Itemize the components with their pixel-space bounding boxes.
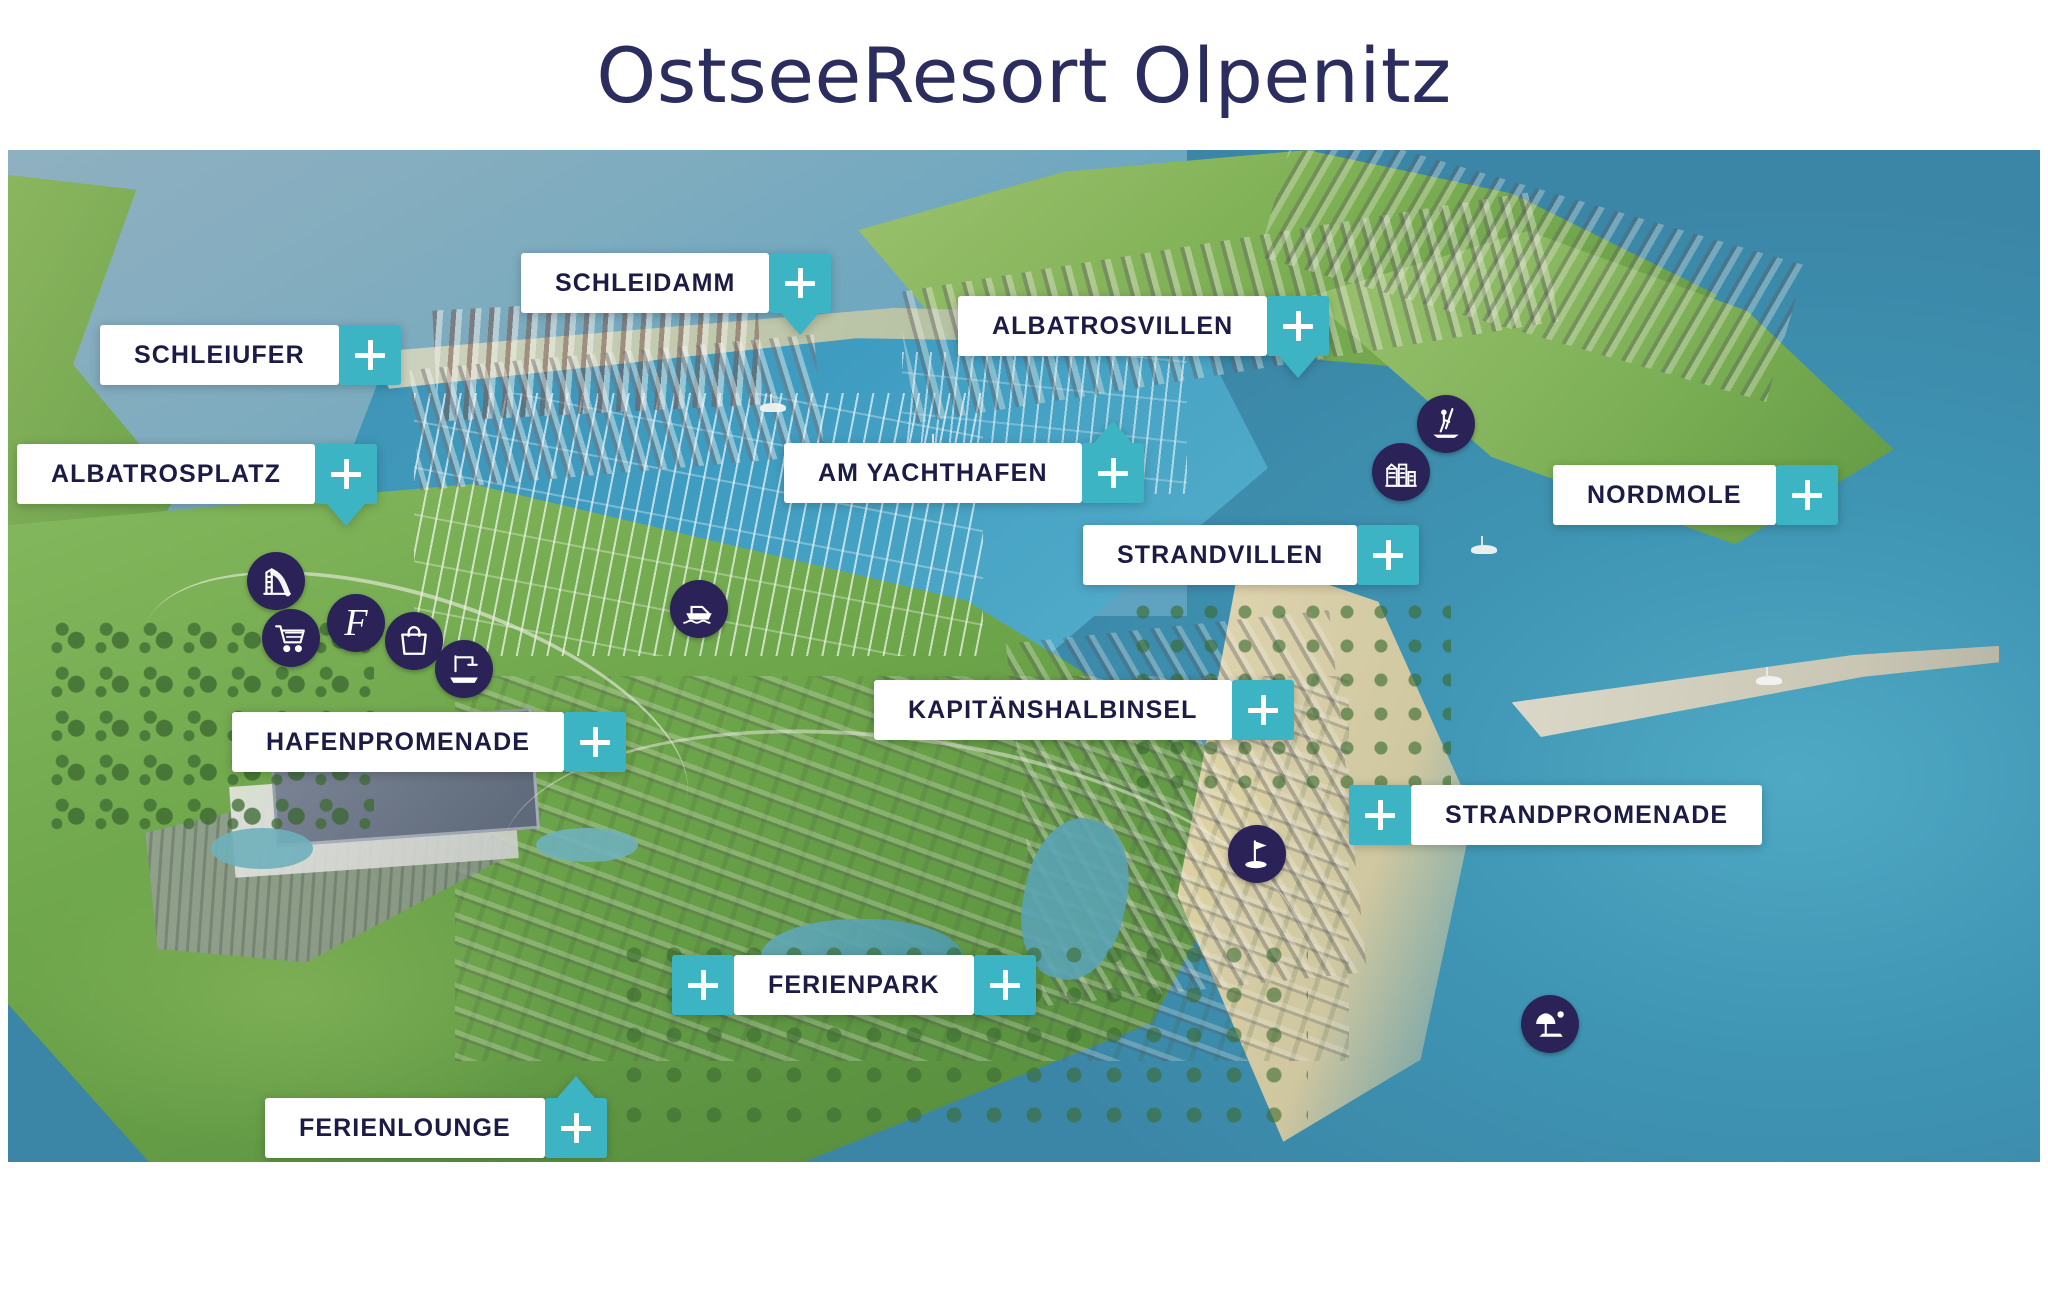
map-label-ferienlounge[interactable]: FERIENLOUNGE — [265, 1098, 607, 1158]
add-marker-button[interactable] — [1349, 785, 1411, 845]
plus-icon — [1248, 695, 1278, 725]
map-label-strandvillen[interactable]: STRANDVILLEN — [1083, 525, 1419, 585]
plus-icon — [688, 970, 718, 1000]
add-marker-button[interactable] — [1776, 465, 1838, 525]
add-marker-button[interactable] — [545, 1098, 607, 1158]
script-f-logo-icon[interactable]: F — [327, 594, 385, 652]
map-label-text: ALBATROSVILLEN — [958, 296, 1267, 356]
add-marker-button[interactable] — [1267, 296, 1329, 356]
script-f-letter: F — [344, 604, 367, 642]
harbour-town-icon[interactable] — [1372, 443, 1430, 501]
map-label-text: FERIENLOUNGE — [265, 1098, 545, 1158]
map-label-text: AM YACHTHAFEN — [784, 443, 1082, 503]
motorboat-icon[interactable] — [670, 580, 728, 638]
beach-umbrella-icon[interactable] — [1521, 995, 1579, 1053]
map-label-text: ALBATROSPLATZ — [17, 444, 315, 504]
map-label-kapitaenshalbinsel[interactable]: KAPITÄNSHALBINSEL — [874, 680, 1294, 740]
map-label-text: SCHLEIDAMM — [521, 253, 769, 313]
map-label-text: SCHLEIUFER — [100, 325, 339, 385]
plus-icon — [355, 340, 385, 370]
boat-marker — [1471, 545, 1497, 554]
plus-icon — [1373, 540, 1403, 570]
map-label-strandpromenade[interactable]: STRANDPROMENADE — [1349, 785, 1762, 845]
map-label-text: STRANDVILLEN — [1083, 525, 1357, 585]
map-label-albatrosvillen[interactable]: ALBATROSVILLEN — [958, 296, 1329, 356]
add-marker-button[interactable] — [1082, 443, 1144, 503]
add-marker-button[interactable] — [339, 325, 401, 385]
map-label-hafenpromenade[interactable]: HAFENPROMENADE — [232, 712, 626, 772]
map-label-ferienpark[interactable]: FERIENPARK — [672, 955, 1036, 1015]
plus-icon — [990, 970, 1020, 1000]
add-marker-button[interactable] — [1232, 680, 1294, 740]
paddleboard-icon[interactable] — [1417, 395, 1475, 453]
water-slide-icon[interactable] — [247, 552, 305, 610]
map-label-text: NORDMOLE — [1553, 465, 1776, 525]
plus-icon — [785, 268, 815, 298]
page-title: OstseeResort Olpenitz — [0, 0, 2048, 150]
add-marker-button[interactable] — [974, 955, 1036, 1015]
add-marker-button[interactable] — [769, 253, 831, 313]
plus-icon — [1365, 800, 1395, 830]
plus-icon — [331, 459, 361, 489]
map-label-albatrosplatz[interactable]: ALBATROSPLATZ — [17, 444, 377, 504]
plus-icon — [1098, 458, 1128, 488]
map-left-margin — [0, 150, 8, 1162]
boat-marker — [1756, 676, 1782, 685]
map-label-text: KAPITÄNSHALBINSEL — [874, 680, 1232, 740]
boat-marker — [760, 403, 786, 412]
golf-flag-icon[interactable] — [1228, 825, 1286, 883]
page-bottom-strip — [0, 1162, 2048, 1303]
map-label-nordmole[interactable]: NORDMOLE — [1553, 465, 1838, 525]
map-right-margin — [2040, 150, 2048, 1162]
plus-icon — [561, 1113, 591, 1143]
plus-icon — [1283, 311, 1313, 341]
map-label-text: STRANDPROMENADE — [1411, 785, 1762, 845]
boat-crane-icon[interactable] — [435, 640, 493, 698]
add-marker-button[interactable] — [564, 712, 626, 772]
add-marker-button[interactable] — [315, 444, 377, 504]
resort-map[interactable]: F — [8, 150, 2040, 1162]
map-label-schleidamm[interactable]: SCHLEIDAMM — [521, 253, 831, 313]
add-marker-button[interactable] — [672, 955, 734, 1015]
shopping-bag-icon[interactable] — [385, 612, 443, 670]
shopping-cart-icon[interactable] — [262, 609, 320, 667]
map-label-schleiufer[interactable]: SCHLEIUFER — [100, 325, 401, 385]
map-label-text: HAFENPROMENADE — [232, 712, 564, 772]
plus-icon — [580, 727, 610, 757]
map-label-am-yachthafen[interactable]: AM YACHTHAFEN — [784, 443, 1144, 503]
add-marker-button[interactable] — [1357, 525, 1419, 585]
plus-icon — [1792, 480, 1822, 510]
map-label-text: FERIENPARK — [734, 955, 974, 1015]
